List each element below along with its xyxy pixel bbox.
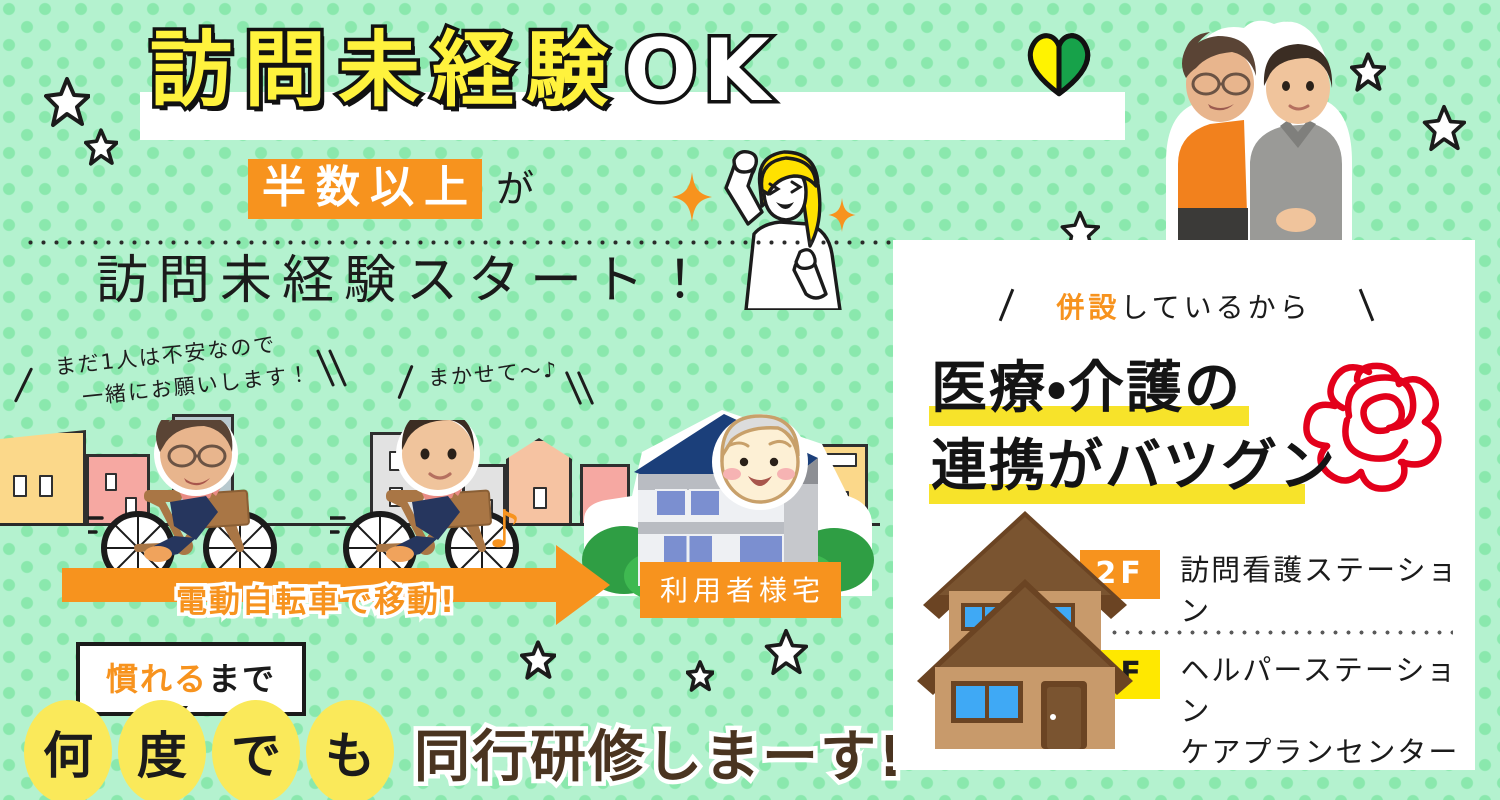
callout-ink-text: まで — [208, 660, 276, 698]
card-kicker: 併設しているから — [893, 286, 1475, 326]
floor-row-2f: 2F 訪問看護ステーション — [1080, 550, 1475, 632]
training-big-text: 同行研修しまーす! — [414, 712, 906, 793]
card-kicker-rest: しているから — [1120, 291, 1311, 324]
speech-slash-left-2 — [397, 365, 413, 400]
floor-row-1f: 1F ヘルパーステーション ケアプランセンター — [1080, 650, 1475, 774]
floor-text-2f: 訪問看護ステーション — [1180, 550, 1475, 632]
cheering-woman-illustration — [700, 142, 880, 310]
card-heading-line2: 連携がバツグン — [931, 436, 1337, 499]
circle-char-2: で — [212, 700, 300, 800]
building — [0, 430, 86, 526]
destination-tag: 利用者様宅 — [640, 562, 841, 618]
page-title: 訪問未経験 OK — [150, 18, 1150, 123]
rider-right-speech: まかせて〜♪ — [427, 353, 559, 395]
bike-travel-label: 電動自転車で移動! — [176, 576, 456, 621]
subheadline-row: 半数以上 が — [248, 158, 534, 219]
title-ok: OK — [624, 28, 776, 114]
speech-slash-left — [14, 367, 33, 402]
star-icon — [520, 640, 556, 680]
floor-text-1f-line2: ケアプランセンター — [1180, 732, 1475, 773]
subheadline-particle: が — [496, 158, 534, 213]
card-kicker-orange: 併設 — [1056, 291, 1120, 324]
dotted-divider — [24, 240, 1024, 245]
staff-photo — [1152, 12, 1362, 244]
circle-char-3: も — [306, 700, 394, 800]
heart-icon — [1023, 26, 1095, 98]
title-japanese: 訪問未経験 — [150, 30, 620, 112]
floor-text-1f-line1: ヘルパーステーション — [1180, 650, 1475, 732]
right-arrow-head-icon — [556, 545, 610, 625]
star-icon — [1422, 104, 1466, 152]
banner-root: 訪問未経験 OK 半数以上 が — [0, 0, 1500, 800]
training-bottom-row: 何 度 で も 同行研修しまーす! — [24, 700, 906, 800]
star-icon — [44, 76, 90, 128]
subheadline-highlight: 半数以上 — [248, 159, 482, 219]
two-story-house-icon — [915, 495, 1135, 753]
cyclist-right — [330, 420, 586, 590]
circle-char-1: 度 — [118, 700, 206, 800]
circle-char-0: 何 — [24, 700, 112, 800]
rider-right-speech-line1: まかせて〜♪ — [427, 353, 559, 395]
cyclist-left — [88, 420, 344, 590]
callout-orange-text: 慣れる — [106, 660, 208, 698]
star-icon — [764, 628, 808, 676]
card-heading-line1: 医療・介護の — [931, 358, 1242, 421]
star-icon — [84, 128, 118, 166]
star-icon — [686, 660, 714, 692]
subheadline-line2: 訪問未経験スタート！ — [96, 250, 716, 312]
floor-dotted-divider — [1108, 630, 1453, 635]
music-note-icon: ♪ — [488, 500, 521, 560]
